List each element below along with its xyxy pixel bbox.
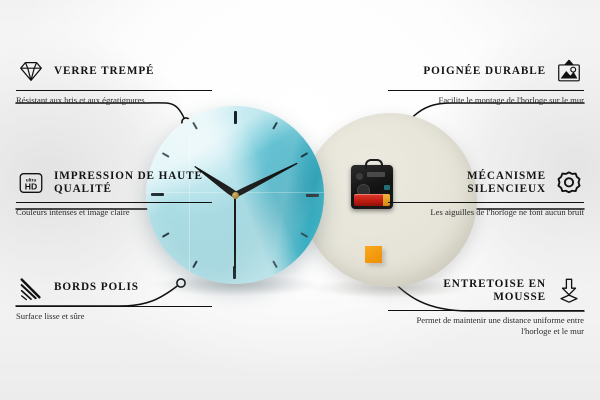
feature-poignee-durable[interactable]: POIGNÉE DURABLE Facilite le montage de l…: [388, 56, 584, 106]
hanging-frame-icon: [554, 56, 584, 86]
svg-text:HD: HD: [25, 182, 37, 192]
feature-rule: [388, 202, 584, 203]
feature-bords-polis[interactable]: BORDS POLIS Surface lisse et sûre: [16, 272, 212, 322]
movement-knob: [356, 173, 363, 180]
hanging-hook: [365, 159, 383, 169]
feature-entretoise-en-mousse[interactable]: ENTRETOISE EN MOUSSE Permet de maintenir…: [388, 276, 584, 337]
feature-title: BORDS POLIS: [54, 281, 212, 294]
second-hand: [234, 195, 236, 269]
movement-slot: [367, 172, 385, 177]
feature-title: ENTRETOISE EN MOUSSE: [388, 278, 546, 304]
feature-rule: [388, 90, 584, 91]
battery: [354, 194, 390, 206]
feature-desc: Couleurs intenses et image claire: [16, 207, 212, 218]
infographic-canvas: VERRE TREMPÉ Résistant aux bris et aux é…: [0, 0, 600, 400]
feature-title: VERRE TREMPÉ: [54, 65, 212, 78]
feature-title: POIGNÉE DURABLE: [388, 65, 546, 78]
feature-title: MÉCANISME SILENCIEUX: [388, 170, 546, 196]
feature-impression-haute-qualite[interactable]: ultra HD IMPRESSION DE HAUTE QUALITÉ Cou…: [16, 168, 212, 218]
diamond-icon: [16, 56, 46, 86]
feature-rule: [16, 306, 212, 307]
polished-edges-icon: [16, 272, 46, 302]
feature-rule: [388, 310, 584, 311]
clock-center-pin: [232, 192, 239, 199]
feature-rule: [16, 90, 212, 91]
feature-desc: Permet de maintenir une distance uniform…: [388, 315, 584, 336]
feature-desc: Les aiguilles de l'horloge ne font aucun…: [388, 207, 584, 218]
clock-movement: [351, 165, 393, 209]
foam-spacer: [365, 246, 382, 263]
feature-desc: Résistant aux bris et aux égratignures: [16, 95, 212, 106]
foam-spacer-icon: [554, 276, 584, 306]
ultra-hd-icon: ultra HD: [16, 168, 46, 198]
clock-tick: [234, 111, 236, 195]
feature-rule: [16, 202, 212, 203]
feature-desc: Facilite le montage de l'horloge sur le …: [388, 95, 584, 106]
gear-icon: [554, 168, 584, 198]
clock-tick: [235, 194, 319, 196]
feature-mecanisme-silencieux[interactable]: MÉCANISME SILENCIEUX Les aiguilles de l'…: [388, 168, 584, 218]
feature-title: IMPRESSION DE HAUTE QUALITÉ: [54, 170, 212, 196]
feature-verre-trempe[interactable]: VERRE TREMPÉ Résistant aux bris et aux é…: [16, 56, 212, 106]
feature-desc: Surface lisse et sûre: [16, 311, 212, 322]
